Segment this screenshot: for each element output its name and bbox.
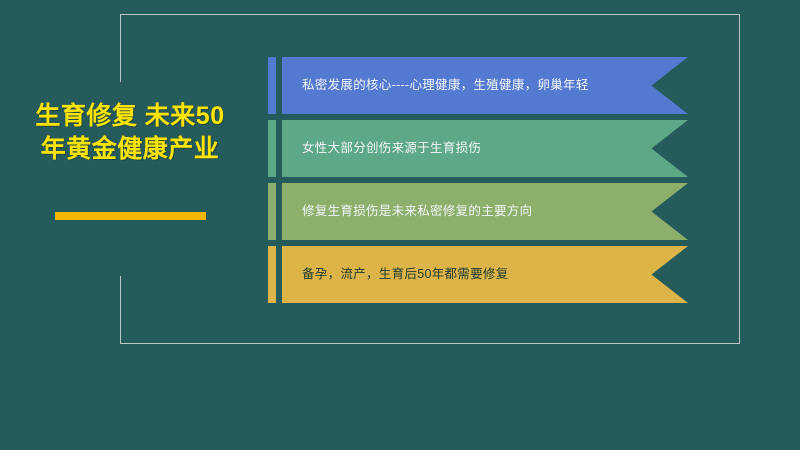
frame-line-left-upper: [120, 14, 121, 82]
banner-accent-tab: [268, 246, 276, 303]
banner-accent-tab: [268, 183, 276, 240]
banner-label: 私密发展的核心----心理健康，生殖健康，卵巢年轻: [282, 77, 635, 94]
banner-item[interactable]: 备孕，流产，生育后50年都需要修复: [268, 246, 688, 303]
frame-line-right: [739, 14, 740, 344]
title-underline-rule: [55, 212, 206, 220]
banner-item[interactable]: 私密发展的核心----心理健康，生殖健康，卵巢年轻: [268, 57, 688, 114]
frame-line-left-lower: [120, 276, 121, 344]
banner-item[interactable]: 修复生育损伤是未来私密修复的主要方向: [268, 183, 688, 240]
banner-item[interactable]: 女性大部分创伤来源于生育损伤: [268, 120, 688, 177]
frame-line-bottom: [120, 343, 740, 344]
slide-title: 生育修复 未来50年黄金健康产业: [30, 100, 230, 166]
banner-label: 修复生育损伤是未来私密修复的主要方向: [282, 203, 578, 220]
banner-ribbon-shape: 修复生育损伤是未来私密修复的主要方向: [282, 183, 688, 240]
banner-ribbon-shape: 私密发展的核心----心理健康，生殖健康，卵巢年轻: [282, 57, 688, 114]
banner-accent-tab: [268, 57, 276, 114]
banner-label: 备孕，流产，生育后50年都需要修复: [282, 266, 555, 283]
frame-line-top: [120, 14, 740, 15]
banner-label: 女性大部分创伤来源于生育损伤: [282, 140, 527, 157]
slide-canvas: 生育修复 未来50年黄金健康产业 私密发展的核心----心理健康，生殖健康，卵巢…: [0, 0, 800, 450]
banner-list: 私密发展的核心----心理健康，生殖健康，卵巢年轻 女性大部分创伤来源于生育损伤…: [268, 57, 688, 303]
banner-accent-tab: [268, 120, 276, 177]
title-block: 生育修复 未来50年黄金健康产业: [30, 100, 230, 166]
banner-ribbon-shape: 备孕，流产，生育后50年都需要修复: [282, 246, 688, 303]
banner-ribbon-shape: 女性大部分创伤来源于生育损伤: [282, 120, 688, 177]
